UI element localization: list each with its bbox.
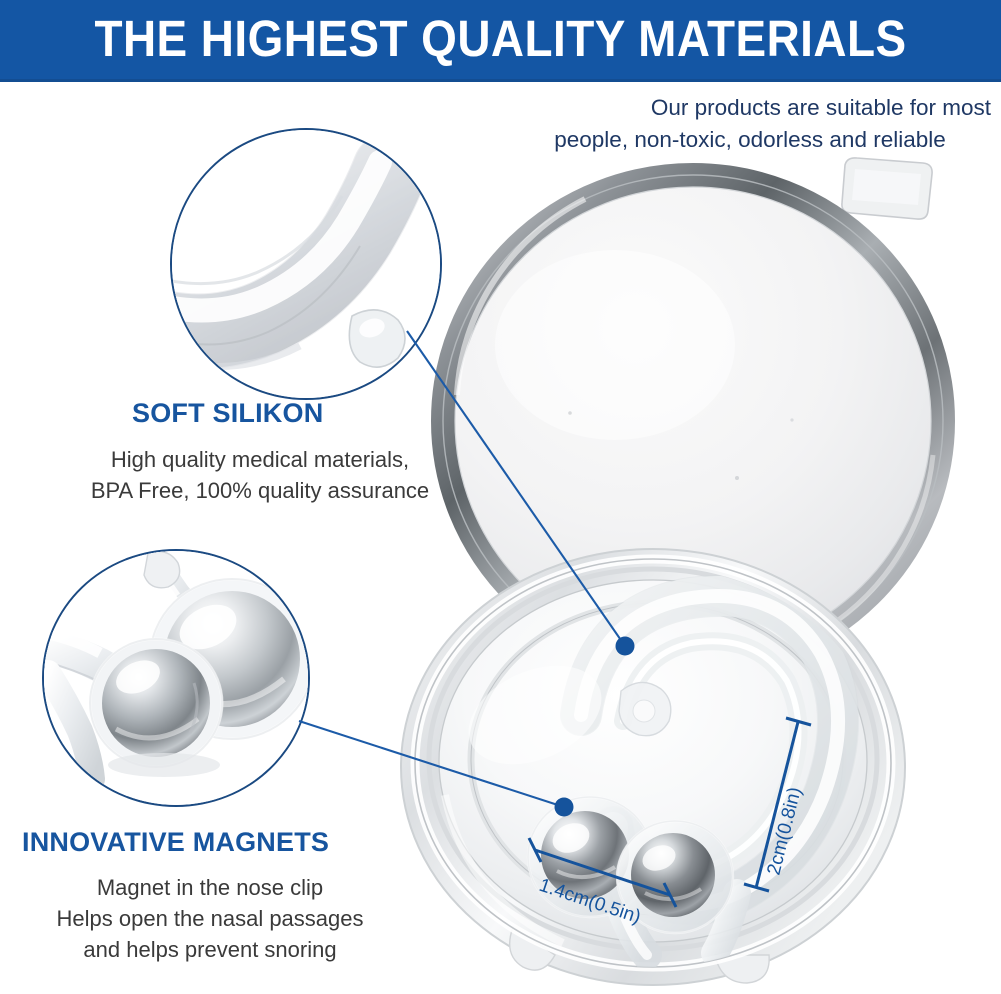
case-base <box>401 549 905 985</box>
magnets-body-line-3: and helps prevent snoring <box>10 934 410 965</box>
feature-body-soft-silikon: High quality medical materials, BPA Free… <box>30 444 490 506</box>
page-title: THE HIGHEST QUALITY MATERIALS <box>50 13 951 67</box>
feature-heading-innovative-magnets: INNOVATIVE MAGNETS <box>22 827 329 858</box>
magnet-ball-right <box>617 821 733 933</box>
intro-line-2: people, non-toxic, odorless and reliable <box>505 124 995 156</box>
intro-text: Our products are suitable for most peopl… <box>505 92 995 156</box>
silicone-closeup-image <box>172 130 440 398</box>
feature-body-innovative-magnets: Magnet in the nose clip Helps open the n… <box>10 872 410 966</box>
feature-heading-soft-silikon: SOFT SILIKON <box>132 398 323 429</box>
magnets-body-line-2: Helps open the nasal passages <box>10 903 410 934</box>
header-banner: THE HIGHEST QUALITY MATERIALS <box>0 0 1001 82</box>
callout-magnet-detail <box>42 549 310 807</box>
magnet-closeup-image <box>44 551 308 805</box>
silikon-body-line-1: High quality medical materials, <box>30 444 490 475</box>
callout-silicone-detail <box>170 128 442 400</box>
product-illustration <box>385 155 1001 994</box>
silikon-body-line-2: BPA Free, 100% quality assurance <box>30 475 490 506</box>
intro-line-1: Our products are suitable for most <box>505 92 995 124</box>
product-photo <box>385 155 1001 994</box>
magnets-body-line-1: Magnet in the nose clip <box>10 872 410 903</box>
infographic-page: THE HIGHEST QUALITY MATERIALS Our produc… <box>0 0 1001 994</box>
